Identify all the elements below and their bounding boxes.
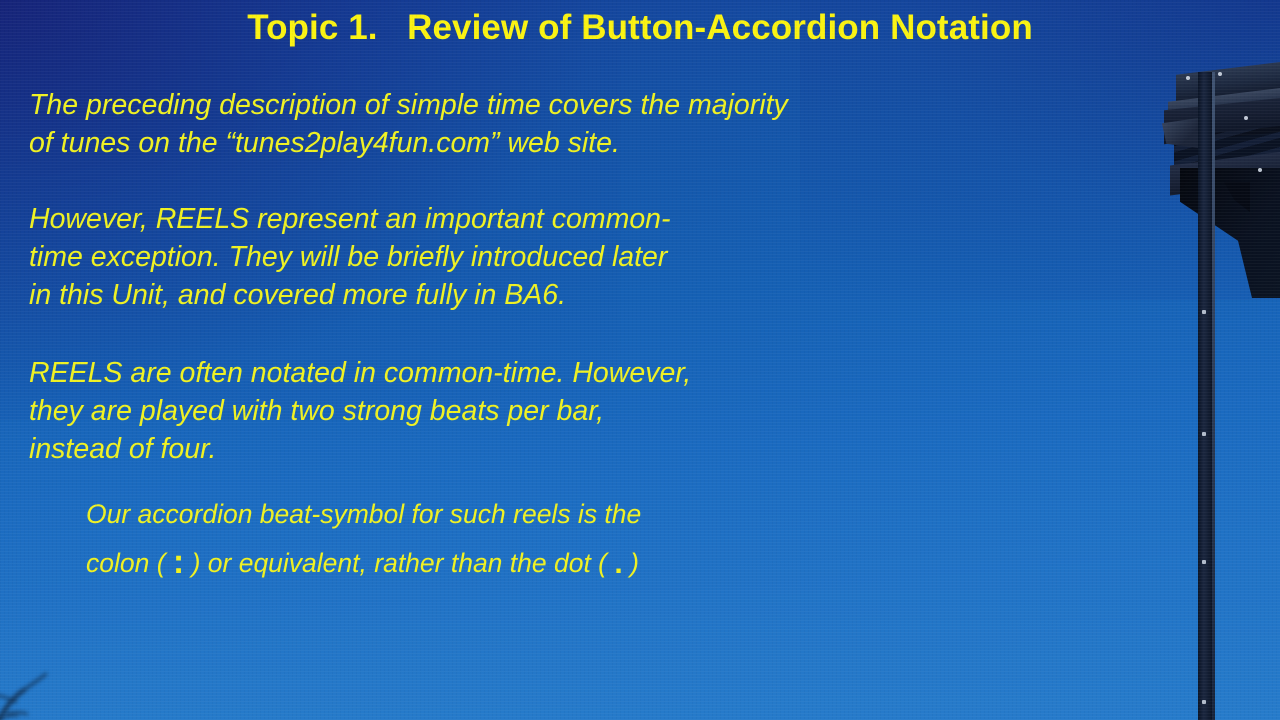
dot-beat-symbol: . [614,547,622,580]
indented-line-2-middle: ) or equivalent, rather than the dot ( [184,548,614,578]
screw-head-icon [1244,116,1248,120]
paragraph-1: The preceding description of simple time… [29,86,788,162]
post-screw-icon [1202,310,1206,314]
indented-line-2: colon ( : ) or equivalent, rather than t… [86,538,639,588]
page-title: Topic 1. Review of Button-Accordion Nota… [0,8,1280,48]
indented-line-2-suffix: ) [623,548,639,578]
screw-head-icon [1218,72,1222,76]
screw-head-icon [1258,168,1262,172]
paragraph-2: However, REELS represent an important co… [29,200,671,314]
indented-line-2-prefix: colon ( [86,548,173,578]
post-screw-icon [1202,560,1206,564]
colon-beat-symbol: : [173,543,184,581]
screw-head-icon [1186,76,1190,80]
paragraph-3: REELS are often notated in common-time. … [29,354,691,468]
post-edge-highlight [1212,72,1215,720]
post-screw-icon [1202,432,1206,436]
indented-line-1: Our accordion beat-symbol for such reels… [86,490,641,538]
branch-silhouette-icon [0,646,80,720]
post-screw-icon [1202,700,1206,704]
roof-structure-photo [1140,0,1280,720]
slide-canvas: Topic 1. Review of Button-Accordion Nota… [0,0,1280,720]
